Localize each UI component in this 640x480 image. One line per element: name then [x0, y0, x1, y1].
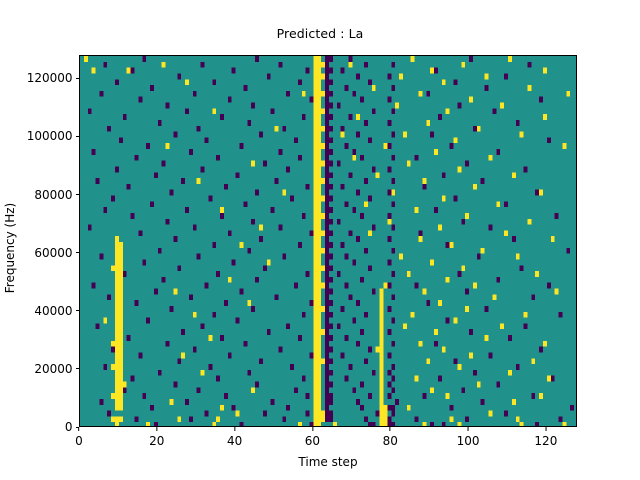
x-tick-label: 60 — [305, 434, 320, 448]
y-tick-label: 0 — [65, 420, 73, 434]
x-tick-80: 80 — [383, 427, 398, 448]
y-tick-label: 60000 — [34, 246, 72, 260]
x-tick-mark — [545, 427, 546, 431]
y-tick-mark — [76, 136, 80, 137]
x-tick-label: 120 — [534, 434, 557, 448]
x-tick-20: 20 — [149, 427, 164, 448]
y-tick-80000: 80000 — [34, 188, 79, 202]
y-tick-40000: 40000 — [34, 304, 79, 318]
y-tick-mark — [76, 252, 80, 253]
x-tick-mark — [78, 427, 79, 431]
y-tick-60000: 60000 — [34, 246, 79, 260]
x-tick-mark — [468, 427, 469, 431]
y-tick-label: 120000 — [27, 71, 73, 85]
y-tick-mark — [76, 368, 80, 369]
y-tick-label: 80000 — [34, 188, 72, 202]
x-axis-label: Time step — [79, 455, 577, 469]
x-tick-label: 100 — [457, 434, 480, 448]
y-tick-label: 100000 — [27, 129, 73, 143]
page-title: Predicted : La — [0, 26, 640, 41]
x-tick-40: 40 — [227, 427, 242, 448]
y-tick-120000: 120000 — [27, 71, 79, 85]
y-tick-mark — [76, 194, 80, 195]
y-tick-label: 20000 — [34, 362, 72, 376]
x-tick-mark — [312, 427, 313, 431]
x-tick-label: 20 — [149, 434, 164, 448]
y-tick-mark — [76, 310, 80, 311]
x-tick-mark — [156, 427, 157, 431]
x-tick-mark — [390, 427, 391, 431]
y-tick-mark — [76, 78, 80, 79]
y-tick-20000: 20000 — [34, 362, 79, 376]
x-tick-label: 40 — [227, 434, 242, 448]
x-tick-0: 0 — [75, 427, 83, 448]
x-tick-60: 60 — [305, 427, 320, 448]
y-axis-label: Frequency (Hz) — [3, 62, 17, 434]
figure-canvas: Predicted : La 0200004000060000800001000… — [0, 0, 640, 480]
heatmap-image — [80, 56, 577, 427]
x-axis-ticks: 020406080100120 — [79, 427, 577, 451]
x-tick-label: 0 — [75, 434, 83, 448]
heatmap-axes[interactable] — [79, 55, 577, 427]
x-tick-100: 100 — [457, 427, 480, 448]
x-tick-label: 80 — [383, 434, 398, 448]
y-tick-label: 40000 — [34, 304, 72, 318]
x-tick-mark — [234, 427, 235, 431]
y-tick-100000: 100000 — [27, 129, 79, 143]
x-tick-120: 120 — [534, 427, 557, 448]
